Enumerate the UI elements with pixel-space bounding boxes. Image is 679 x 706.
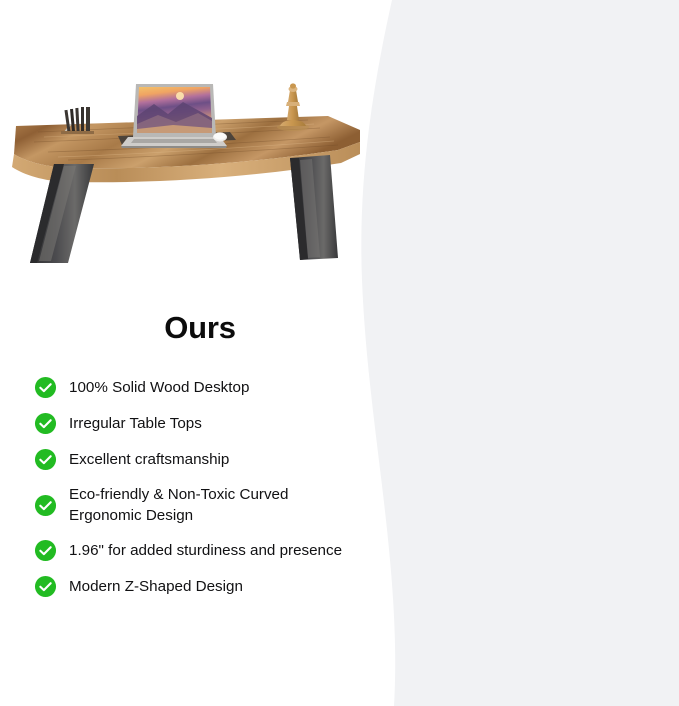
- check-circle-icon: [34, 448, 57, 471]
- list-item-label: 1.96" for added sturdiness and presence: [69, 540, 364, 561]
- list-item: Eco-friendly & Non-Toxic Curved Ergonomi…: [34, 484, 364, 526]
- check-circle-icon: [34, 575, 57, 598]
- desk-leg-right: [290, 155, 338, 260]
- ours-column: Ours 100% Solid Wood Desktop: [0, 0, 400, 706]
- list-item: 100% Solid Wood Desktop: [34, 376, 364, 399]
- list-item: Modern Z-Shaped Design: [34, 575, 364, 598]
- chess-piece: [277, 83, 309, 131]
- check-circle-icon: [34, 494, 57, 517]
- ours-heading: Ours: [0, 310, 400, 346]
- ours-feature-list: 100% Solid Wood Desktop Irregular Table …: [34, 376, 364, 611]
- list-item-label: Eco-friendly & Non-Toxic Curved Ergonomi…: [69, 484, 364, 526]
- list-item: 1.96" for added sturdiness and presence: [34, 539, 364, 562]
- check-circle-icon: [34, 539, 57, 562]
- ours-product-image: [8, 58, 368, 288]
- list-item-label: Modern Z-Shaped Design: [69, 576, 364, 597]
- desk-leg-left: [30, 164, 94, 263]
- check-circle-icon: [34, 412, 57, 435]
- list-item: Excellent craftsmanship: [34, 448, 364, 471]
- comparison-infographic: Ours 100% Solid Wood Desktop: [0, 0, 679, 706]
- laptop: [121, 84, 227, 148]
- others-column: Others Compressed Garbage Foam or Partic…: [400, 0, 679, 706]
- check-circle-icon: [34, 376, 57, 399]
- list-item-label: 100% Solid Wood Desktop: [69, 377, 364, 398]
- list-item: Irregular Table Tops: [34, 412, 364, 435]
- books-on-desk: [61, 107, 94, 134]
- list-item-label: Irregular Table Tops: [69, 413, 364, 434]
- list-item-label: Excellent craftsmanship: [69, 449, 364, 470]
